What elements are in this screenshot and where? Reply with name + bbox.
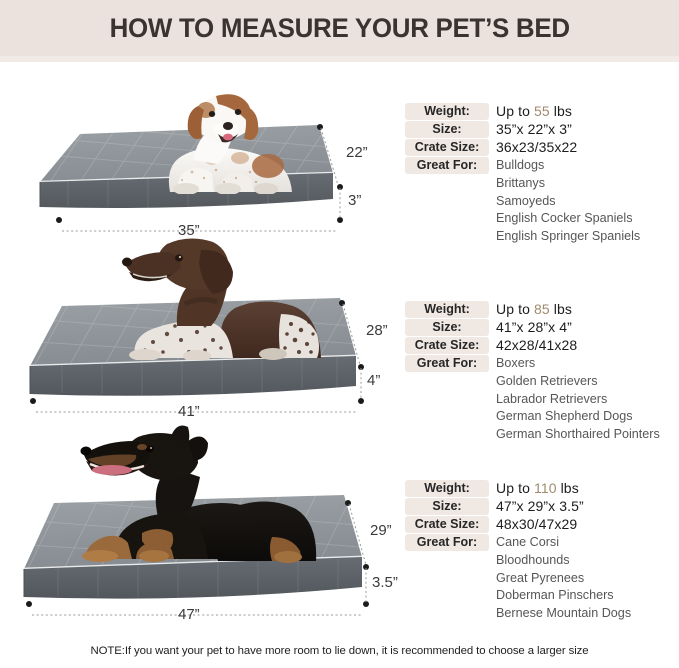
dim-line-width <box>348 503 368 565</box>
spec-row-crate-size: Crate Size: 36x23/35x22 <box>405 139 640 156</box>
breed-item: Bulldogs <box>496 157 640 175</box>
spec-value-weight: Up to 85 lbs <box>496 301 572 318</box>
dim-label-width: 29” <box>370 522 392 539</box>
breed-item: Brittanys <box>496 175 640 193</box>
dim-label-length: 41” <box>178 403 200 420</box>
spec-label-crate-size: Crate Size: <box>405 337 489 354</box>
dim-label-width: 28” <box>366 322 388 339</box>
spec-table-small: Weight: Up to 55 lbs Size: 35”x 22”x 3” … <box>405 103 640 247</box>
breed-item: Boxers <box>496 355 660 373</box>
spec-label-weight: Weight: <box>405 301 489 318</box>
spec-label-size: Size: <box>405 319 489 336</box>
dim-label-height: 3” <box>348 192 361 209</box>
spec-label-great-for: Great For: <box>405 157 489 174</box>
spec-row-weight: Weight: Up to 85 lbs <box>405 301 660 318</box>
dim-line-length <box>32 603 363 605</box>
spec-row-weight: Weight: Up to 110 lbs <box>405 480 631 497</box>
spec-row-size: Size: 41”x 28”x 4” <box>405 319 660 336</box>
spec-row-great-for: Great For: Cane Corsi Bloodhounds Great … <box>405 534 631 623</box>
weight-suffix: lbs <box>561 480 579 496</box>
weight-suffix: lbs <box>554 301 572 317</box>
spec-table-large: Weight: Up to 110 lbs Size: 47”x 29”x 3.… <box>405 480 631 624</box>
weight-suffix: lbs <box>554 103 572 119</box>
breed-item: Bernese Mountain Dogs <box>496 605 631 623</box>
dim-line-height <box>339 188 343 218</box>
weight-number: 55 <box>534 103 550 119</box>
dim-line-length <box>62 219 338 221</box>
spec-value-crate-size: 48x30/47x29 <box>496 516 577 533</box>
spec-value-weight: Up to 55 lbs <box>496 103 572 120</box>
spec-row-crate-size: Crate Size: 42x28/41x28 <box>405 337 660 354</box>
breed-item: Bloodhounds <box>496 552 631 570</box>
spec-row-crate-size: Crate Size: 48x30/47x29 <box>405 516 631 533</box>
bed-size-section-small: 22” 3” 35” Weight: Up to 55 lbs Size: 35… <box>0 62 679 234</box>
dim-label-height: 3.5” <box>372 574 398 591</box>
weight-prefix: Up to <box>496 103 530 119</box>
weight-prefix: Up to <box>496 301 530 317</box>
dim-label-length: 47” <box>178 606 200 623</box>
breed-item: English Cocker Spaniels <box>496 210 640 228</box>
weight-number: 85 <box>534 301 550 317</box>
dog-photo-gsp <box>105 230 345 360</box>
spec-value-weight: Up to 110 lbs <box>496 480 579 497</box>
spec-label-great-for: Great For: <box>405 534 489 551</box>
spec-label-size: Size: <box>405 121 489 138</box>
spec-value-size: 47”x 29”x 3.5” <box>496 498 584 515</box>
spec-label-crate-size: Crate Size: <box>405 139 489 156</box>
bed-size-section-medium: 28” 4” 41” Weight: Up to 85 lbs Size: 41… <box>0 228 679 424</box>
breed-item: Samoyeds <box>496 193 640 211</box>
spec-row-size: Size: 47”x 29”x 3.5” <box>405 498 631 515</box>
spec-label-great-for: Great For: <box>405 355 489 372</box>
page-title: HOW TO MEASURE YOUR PET’S BED <box>109 13 569 44</box>
weight-number: 110 <box>534 480 557 496</box>
dim-line-width <box>342 303 362 365</box>
dim-line-length <box>36 400 358 402</box>
spec-label-weight: Weight: <box>405 480 489 497</box>
spec-row-weight: Weight: Up to 55 lbs <box>405 103 640 120</box>
weight-prefix: Up to <box>496 480 530 496</box>
bed-size-section-large: 29” 3.5” 47” Weight: Up to 110 lbs Size:… <box>0 420 679 638</box>
dim-label-width: 22” <box>346 144 368 161</box>
breed-item: Labrador Retrievers <box>496 391 660 409</box>
spec-value-crate-size: 42x28/41x28 <box>496 337 577 354</box>
breed-item: Golden Retrievers <box>496 373 660 391</box>
dim-line-height <box>365 568 369 602</box>
spec-value-size: 41”x 28”x 4” <box>496 319 572 336</box>
dim-line-height <box>360 368 364 399</box>
dog-photo-brittany <box>120 74 320 194</box>
header-banner: HOW TO MEASURE YOUR PET’S BED <box>0 0 679 56</box>
footer-note: NOTE:If you want your pet to have more r… <box>0 645 679 657</box>
dim-label-height: 4” <box>367 372 380 389</box>
spec-row-size: Size: 35”x 22”x 3” <box>405 121 640 138</box>
breed-list: Cane Corsi Bloodhounds Great Pyrenees Do… <box>496 534 631 623</box>
spec-value-crate-size: 36x23/35x22 <box>496 139 577 156</box>
dog-photo-doberman <box>58 425 348 565</box>
dim-line-width <box>320 127 340 185</box>
spec-label-crate-size: Crate Size: <box>405 516 489 533</box>
spec-label-size: Size: <box>405 498 489 515</box>
breed-item: Great Pyrenees <box>496 570 631 588</box>
breed-item: Cane Corsi <box>496 534 631 552</box>
breed-item: Doberman Pinschers <box>496 587 631 605</box>
spec-value-size: 35”x 22”x 3” <box>496 121 572 138</box>
spec-label-weight: Weight: <box>405 103 489 120</box>
